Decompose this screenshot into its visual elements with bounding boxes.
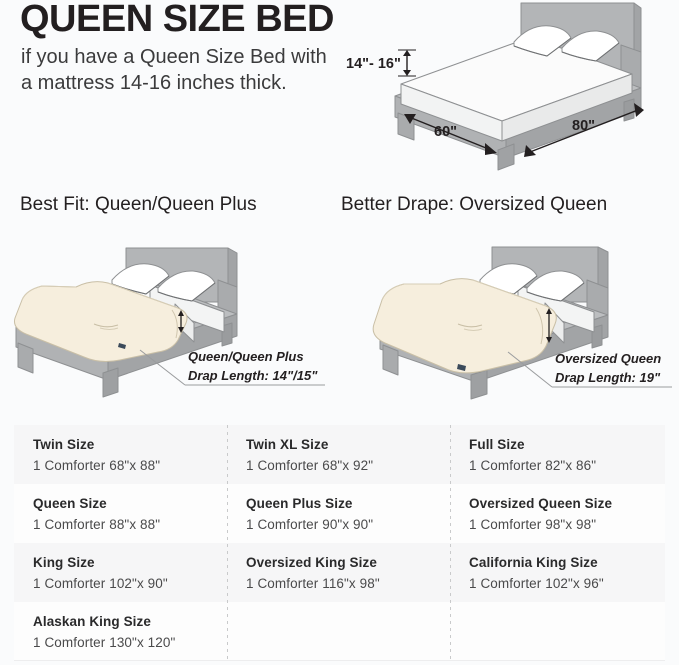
size-spec: 1 Comforter 88"x 88" bbox=[33, 515, 227, 535]
better-drape-callout-line1: Oversized Queen bbox=[555, 350, 661, 369]
size-spec: 1 Comforter 98"x 98" bbox=[469, 515, 665, 535]
table-cell: Full Size 1 Comforter 82"x 86" bbox=[450, 425, 665, 484]
section-heading-better-drape: Better Drape: Oversized Queen bbox=[341, 194, 607, 216]
size-spec: 1 Comforter 102"x 96" bbox=[469, 574, 665, 594]
best-fit-callout-line1: Queen/Queen Plus bbox=[188, 348, 317, 367]
size-name: Oversized Queen Size bbox=[469, 495, 665, 513]
size-spec: 1 Comforter 116"x 98" bbox=[246, 574, 450, 594]
size-name: Full Size bbox=[469, 436, 665, 454]
size-spec: 1 Comforter 82"x 86" bbox=[469, 456, 665, 476]
size-name: Twin XL Size bbox=[246, 436, 450, 454]
table-row: Twin Size 1 Comforter 68"x 88" Twin XL S… bbox=[14, 425, 665, 484]
section-heading-best-fit: Best Fit: Queen/Queen Plus bbox=[20, 194, 257, 216]
size-name: Oversized King Size bbox=[246, 554, 450, 572]
page-subtitle: if you have a Queen Size Bed with a matt… bbox=[21, 44, 331, 96]
size-name: Twin Size bbox=[33, 436, 227, 454]
comforter-size-table: Twin Size 1 Comforter 68"x 88" Twin XL S… bbox=[14, 425, 665, 661]
size-name: Queen Size bbox=[33, 495, 227, 513]
table-column-divider bbox=[450, 425, 451, 661]
size-name: Queen Plus Size bbox=[246, 495, 450, 513]
size-spec: 1 Comforter 102"x 90" bbox=[33, 574, 227, 594]
table-row: King Size 1 Comforter 102"x 90" Oversize… bbox=[14, 543, 665, 602]
size-spec: 1 Comforter 68"x 88" bbox=[33, 456, 227, 476]
table-column-divider bbox=[227, 425, 228, 661]
size-spec: 1 Comforter 68"x 92" bbox=[246, 456, 450, 476]
table-cell: Oversized King Size 1 Comforter 116"x 98… bbox=[227, 543, 450, 602]
table-cell: Alaskan King Size 1 Comforter 130"x 120" bbox=[14, 602, 227, 661]
page-title: QUEEN SIZE BED bbox=[20, 0, 334, 42]
table-row: Alaskan King Size 1 Comforter 130"x 120" bbox=[14, 602, 665, 661]
best-fit-callout-line2: Drap Length: 14"/15" bbox=[188, 367, 317, 386]
table-cell: King Size 1 Comforter 102"x 90" bbox=[14, 543, 227, 602]
table-cell: California King Size 1 Comforter 102"x 9… bbox=[450, 543, 665, 602]
best-fit-bed-diagram bbox=[0, 240, 340, 420]
table-cell: Twin XL Size 1 Comforter 68"x 92" bbox=[227, 425, 450, 484]
width-label: 60" bbox=[434, 124, 457, 140]
size-name: King Size bbox=[33, 554, 227, 572]
size-name: California King Size bbox=[469, 554, 665, 572]
better-drape-callout-line2: Drap Length: 19" bbox=[555, 369, 661, 388]
size-spec: 1 Comforter 130"x 120" bbox=[33, 633, 227, 653]
table-cell: Twin Size 1 Comforter 68"x 88" bbox=[14, 425, 227, 484]
table-cell: Queen Plus Size 1 Comforter 90"x 90" bbox=[227, 484, 450, 543]
length-label: 80" bbox=[572, 118, 595, 134]
hero-bed-diagram: 14"- 16" 60" 80" bbox=[338, 0, 679, 180]
better-drape-bed-diagram bbox=[340, 240, 679, 420]
table-row: Queen Size 1 Comforter 88"x 88" Queen Pl… bbox=[14, 484, 665, 543]
size-spec: 1 Comforter 90"x 90" bbox=[246, 515, 450, 535]
table-cell: Oversized Queen Size 1 Comforter 98"x 98… bbox=[450, 484, 665, 543]
better-drape-callout: Oversized Queen Drap Length: 19" bbox=[555, 350, 661, 388]
table-cell bbox=[450, 602, 665, 661]
size-name: Alaskan King Size bbox=[33, 613, 227, 631]
best-fit-callout: Queen/Queen Plus Drap Length: 14"/15" bbox=[188, 348, 317, 386]
thickness-label: 14"- 16" bbox=[346, 56, 401, 72]
table-cell bbox=[227, 602, 450, 661]
table-cell: Queen Size 1 Comforter 88"x 88" bbox=[14, 484, 227, 543]
infographic-root: QUEEN SIZE BED if you have a Queen Size … bbox=[0, 0, 679, 665]
